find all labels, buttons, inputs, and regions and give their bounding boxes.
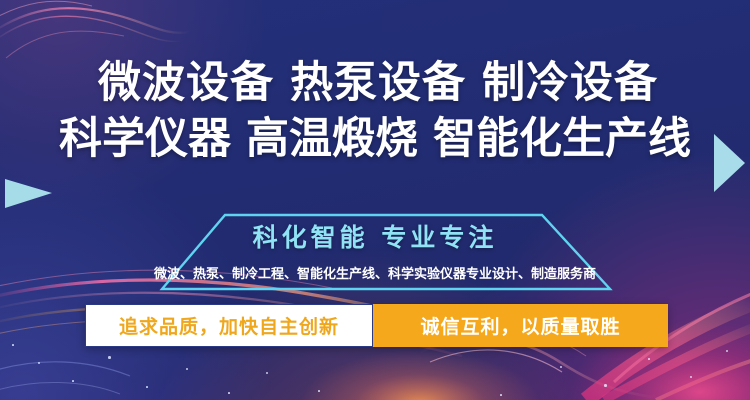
triangle-right-icon-left	[5, 179, 52, 208]
promo-banner: 微波设备 热泵设备 制冷设备 科学仪器 高温煅烧 智能化生产线 科化智能 专业专…	[0, 0, 750, 400]
slogan-bar-quality: 追求品质，加快自主创新	[85, 304, 373, 347]
sparkle-particle	[604, 384, 607, 387]
slogan-bar-group: 追求品质，加快自主创新 诚信互利，以质量取胜	[85, 304, 668, 347]
sparkle-particle	[108, 356, 111, 359]
subtitle-main: 科化智能 专业专注	[0, 218, 750, 254]
headline-block: 微波设备 热泵设备 制冷设备 科学仪器 高温煅烧 智能化生产线	[0, 62, 750, 161]
headline-line-2: 科学仪器 高温煅烧 智能化生产线	[0, 118, 750, 161]
sparkle-particle	[690, 376, 692, 378]
slogan-bar-integrity: 诚信互利，以质量取胜	[373, 304, 668, 347]
subtitle-detail: 微波、热泵、制冷工程、智能化生产线、科学实验仪器专业设计、制造服务商	[0, 263, 750, 282]
sparkle-particle	[186, 368, 188, 370]
sparkle-particle	[12, 344, 14, 346]
sparkle-particle	[318, 390, 320, 392]
sparkle-particle	[266, 372, 268, 374]
sparkle-particle	[228, 392, 230, 394]
sparkle-particle	[72, 380, 74, 382]
sparkle-particle	[38, 362, 40, 364]
sparkle-particle	[560, 366, 562, 368]
sparkle-particle	[726, 350, 728, 352]
sparkle-particle	[146, 386, 148, 388]
sparkle-particle	[648, 358, 650, 360]
headline-line-1: 微波设备 热泵设备 制冷设备	[0, 62, 750, 105]
sparkle-particle	[500, 394, 502, 396]
